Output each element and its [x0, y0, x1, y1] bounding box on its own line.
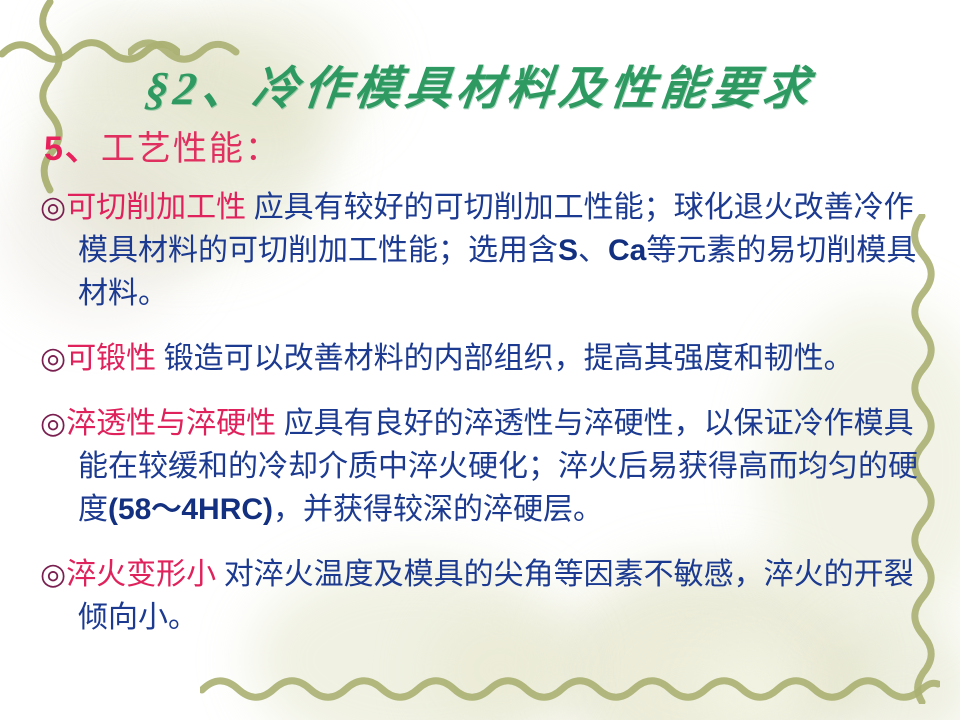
- bullet-marker-icon: ◎: [40, 407, 66, 440]
- bullet-text-block: ◎淬透性与淬硬性 应具有良好的淬透性与淬硬性，以保证冷作模具能在较缓和的冷却介质…: [40, 402, 920, 531]
- branch-decoration-bottom-horizontal: [200, 672, 940, 702]
- slide-canvas: §2、冷作模具材料及性能要求 5、工艺性能： ◎可切削加工性 应具有较好的可切削…: [0, 0, 960, 720]
- bullet-term: 可切削加工性: [66, 191, 246, 224]
- section-heading: 5、工艺性能：: [44, 121, 281, 170]
- bullet-body-text-2: 、: [578, 234, 608, 267]
- bullet-latin-token: S: [558, 234, 578, 267]
- bullet-marker-icon: ◎: [40, 342, 66, 375]
- section-heading-number: 5、: [44, 130, 101, 168]
- bullet-item: ◎可锻性 锻造可以改善材料的内部组织，提高其强度和韧性。: [40, 337, 920, 380]
- bullet-latin-token: (58～4HRC): [108, 493, 273, 526]
- bullet-term: 淬火变形小: [66, 558, 216, 591]
- bullet-term: 可锻性: [66, 342, 156, 375]
- bullet-text-block: ◎可锻性 锻造可以改善材料的内部组织，提高其强度和韧性。: [40, 337, 920, 380]
- bullet-marker-icon: ◎: [40, 558, 66, 591]
- slide-title: §2、冷作模具材料及性能要求: [0, 52, 960, 118]
- bullet-text-block: ◎可切削加工性 应具有较好的可切削加工性能；球化退火改善冷作模具材料的可切削加工…: [40, 186, 920, 315]
- bullet-body-text-2: ，并获得较深的淬硬层。: [273, 493, 603, 526]
- bullet-text-block: ◎淬火变形小 对淬火温度及模具的尖角等因素不敏感，淬火的开裂倾向小。: [40, 553, 920, 639]
- bullet-item: ◎可切削加工性 应具有较好的可切削加工性能；球化退火改善冷作模具材料的可切削加工…: [40, 186, 920, 315]
- bullet-item: ◎淬火变形小 对淬火温度及模具的尖角等因素不敏感，淬火的开裂倾向小。: [40, 553, 920, 639]
- bullet-body-text: 锻造可以改善材料的内部组织，提高其强度和韧性。: [156, 342, 854, 375]
- bullet-list: ◎可切削加工性 应具有较好的可切削加工性能；球化退火改善冷作模具材料的可切削加工…: [40, 186, 920, 661]
- section-heading-label: 工艺性能：: [101, 131, 281, 168]
- bullet-latin-token-2: Ca: [608, 234, 646, 267]
- bullet-item: ◎淬透性与淬硬性 应具有良好的淬透性与淬硬性，以保证冷作模具能在较缓和的冷却介质…: [40, 402, 920, 531]
- bullet-marker-icon: ◎: [40, 191, 66, 224]
- bullet-term: 淬透性与淬硬性: [66, 407, 276, 440]
